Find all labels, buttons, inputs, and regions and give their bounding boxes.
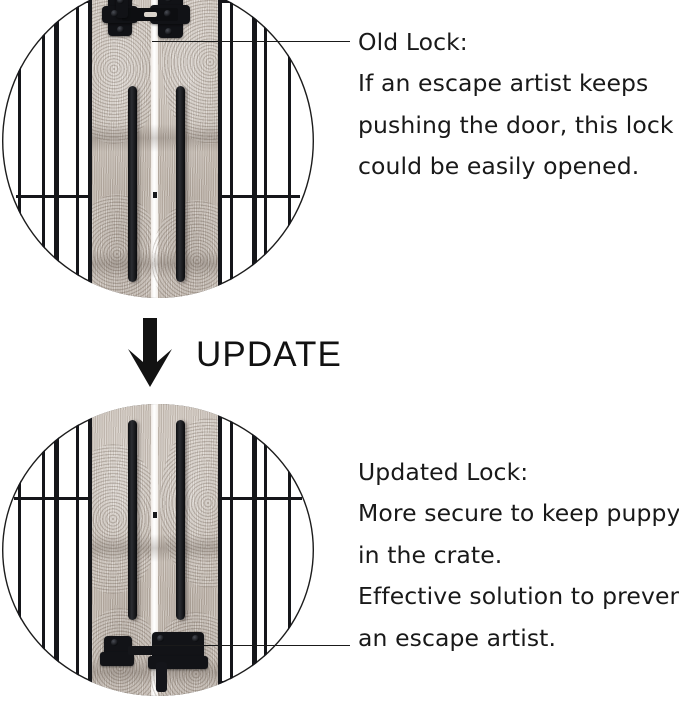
crate-bar bbox=[230, 0, 233, 298]
wood-knot bbox=[160, 418, 218, 588]
crate-rail bbox=[216, 681, 258, 684]
down-arrow-icon bbox=[126, 318, 174, 392]
crate-rail bbox=[60, 681, 94, 684]
crate-bar bbox=[218, 0, 222, 298]
crate-rail bbox=[12, 0, 92, 3]
latch-screw bbox=[117, 26, 124, 33]
door-shadow bbox=[92, 534, 218, 562]
callout-line: an escape artist. bbox=[358, 618, 679, 660]
crate-bar bbox=[76, 404, 79, 696]
wood-knot bbox=[92, 444, 160, 594]
door-handle-right bbox=[176, 420, 185, 620]
crate-door-scene-old bbox=[2, 0, 314, 298]
door-shadow bbox=[92, 124, 218, 152]
door-shadow bbox=[92, 250, 218, 278]
door-center-pin bbox=[153, 512, 157, 518]
door-center-pin bbox=[153, 192, 157, 198]
crate-bar bbox=[264, 0, 267, 298]
latch-screw bbox=[165, 28, 172, 35]
wood-knot bbox=[152, 200, 218, 298]
crate-bar bbox=[54, 404, 59, 696]
crate-bar bbox=[76, 0, 79, 298]
crate-bar bbox=[264, 404, 267, 696]
door-handle-right bbox=[176, 86, 185, 282]
callout-line: More secure to keep puppy bbox=[358, 493, 679, 535]
wood-knot bbox=[92, 194, 160, 298]
crate-rail bbox=[216, 0, 300, 3]
crate-rail bbox=[16, 195, 94, 198]
bolt-drop-pin bbox=[156, 662, 167, 692]
door-handle-left bbox=[128, 86, 137, 282]
crate-bar bbox=[218, 404, 222, 696]
crate-rail bbox=[216, 195, 300, 198]
bolt-screw bbox=[192, 635, 199, 642]
bolt-screw bbox=[111, 639, 118, 646]
crate-bar bbox=[230, 404, 233, 696]
old-flip-latch-icon bbox=[106, 0, 202, 42]
callout-line: pushing the door, this lock bbox=[358, 105, 679, 147]
crate-bar bbox=[288, 404, 291, 696]
callout-old-lock: Old Lock: If an escape artist keeps push… bbox=[358, 22, 679, 188]
latch-screw bbox=[164, 10, 171, 17]
callout-title-updated-lock: Updated Lock: bbox=[358, 452, 679, 493]
crate-bar bbox=[54, 0, 59, 298]
latch-slot bbox=[144, 12, 157, 17]
crate-bar bbox=[288, 0, 291, 298]
callout-line: If an escape artist keeps bbox=[358, 63, 679, 105]
update-label: UPDATE bbox=[196, 335, 342, 375]
crate-bar bbox=[252, 0, 257, 298]
callout-updated-lock: Updated Lock: More secure to keep puppy … bbox=[358, 452, 679, 659]
update-banner: UPDATE bbox=[126, 318, 342, 392]
latch-screw bbox=[111, 10, 118, 17]
crate-bar bbox=[252, 404, 257, 696]
crate-door-panel bbox=[92, 0, 218, 298]
callout-title-old-lock: Old Lock: bbox=[358, 22, 679, 63]
callout-line: could be easily opened. bbox=[358, 146, 679, 188]
callout-line: Effective solution to prevent bbox=[358, 576, 679, 618]
photo-old-lock bbox=[2, 0, 314, 298]
leader-line-old-lock bbox=[152, 41, 350, 42]
callout-line: in the crate. bbox=[358, 535, 679, 577]
crate-door-scene-updated bbox=[2, 404, 314, 696]
crate-bar bbox=[42, 0, 45, 298]
crate-bar bbox=[18, 0, 21, 298]
photo-updated-lock bbox=[2, 404, 314, 696]
updated-slide-bolt-icon bbox=[104, 626, 212, 686]
crate-rail bbox=[216, 497, 302, 500]
leader-line-updated-lock bbox=[152, 645, 350, 646]
crate-rail bbox=[14, 497, 94, 500]
crate-bar bbox=[18, 404, 21, 696]
crate-bar bbox=[42, 404, 45, 696]
door-handle-left bbox=[128, 420, 137, 620]
bolt-screw bbox=[157, 635, 164, 642]
